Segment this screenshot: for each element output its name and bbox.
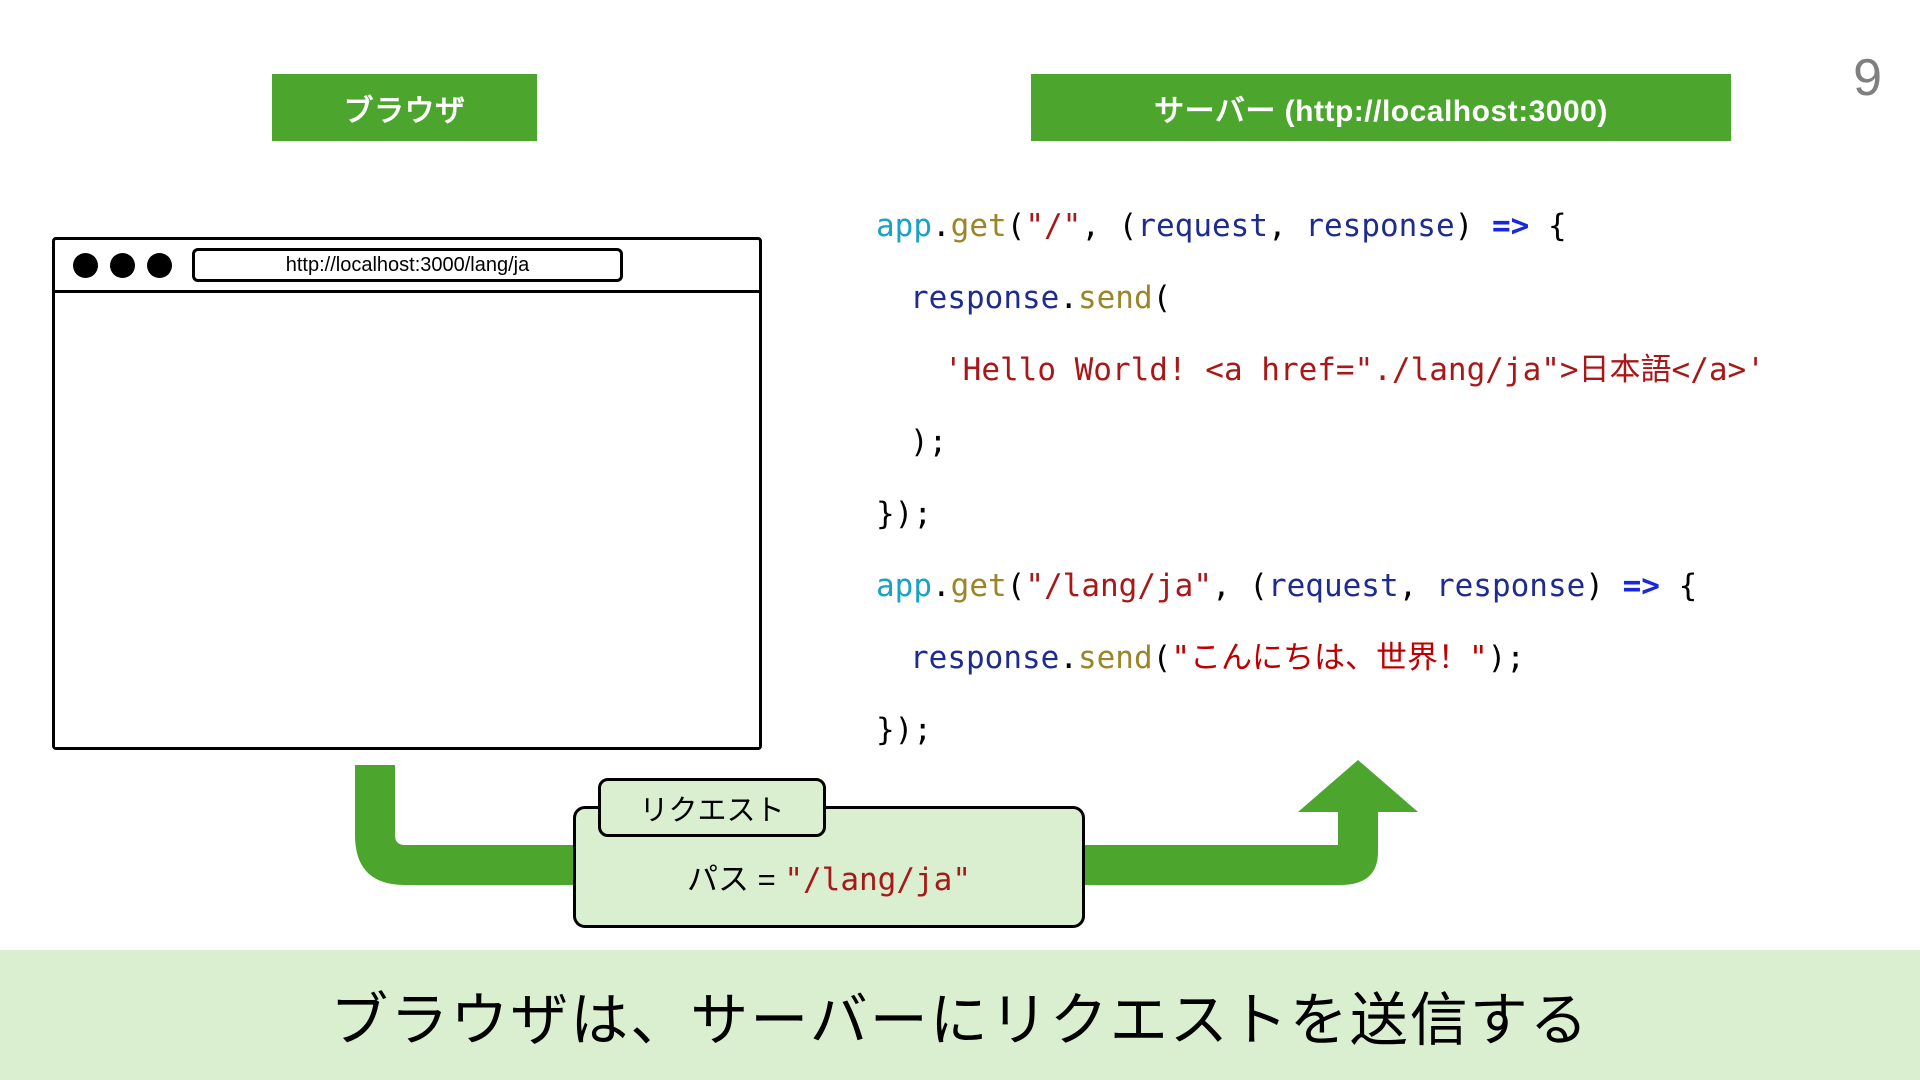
code-token: request [1268,568,1399,604]
code-token: ); [1488,640,1525,676]
code-token: "/" [1025,208,1081,244]
browser-viewport [55,293,759,747]
server-code-block: app.get("/", (request, response) => {res… [876,190,1765,766]
code-line: }); [876,478,1765,550]
code-token: "/lang/ja" [1025,568,1212,604]
code-token: , [1399,568,1436,604]
code-token: 'Hello World! <a href="./lang/ja">日本語</a… [944,352,1765,388]
code-token: response [910,280,1059,316]
code-token: ( [1153,280,1172,316]
code-token: get [951,208,1007,244]
request-callout-body: パス = "/lang/ja" [687,854,971,899]
code-line: app.get("/", (request, response) => { [876,190,1765,262]
code-token: ( [1007,208,1026,244]
code-token: app [876,208,932,244]
server-panel-title: サーバー (http://localhost:3000) [1031,74,1731,141]
code-token: => [1623,568,1660,604]
code-line: }); [876,694,1765,766]
code-token: . [1059,640,1078,676]
code-line: app.get("/lang/ja", (request, response) … [876,550,1765,622]
code-token: }); [876,496,932,532]
code-token: , [1268,208,1305,244]
page-number: 9 [1853,52,1882,104]
code-token: response [910,640,1059,676]
code-token: }); [876,712,932,748]
request-callout-tab-label: リクエスト [639,787,784,829]
code-line: response.send("こんにちは、世界！"); [876,622,1765,694]
url-bar[interactable]: http://localhost:3000/lang/ja [192,248,623,282]
code-token: send [1078,280,1153,316]
code-token: ) [1585,568,1622,604]
code-token: send [1078,640,1153,676]
request-callout-tab: リクエスト [598,778,826,837]
browser-chrome-bar: http://localhost:3000/lang/ja [55,240,759,293]
code-token: { [1660,568,1697,604]
code-token: { [1529,208,1566,244]
code-token: ) [1455,208,1492,244]
code-line: ); [876,406,1765,478]
request-path-label: パス = [687,862,784,897]
code-line: 'Hello World! <a href="./lang/ja">日本語</a… [876,334,1765,406]
code-token: . [932,208,951,244]
code-token: . [1059,280,1078,316]
window-close-dot-icon[interactable] [73,253,98,278]
code-token: => [1492,208,1529,244]
code-token: "こんにちは、世界！" [1171,640,1487,676]
request-path-value: "/lang/ja" [784,862,971,898]
code-token: app [876,568,932,604]
code-line: response.send( [876,262,1765,334]
window-maximize-dot-icon[interactable] [147,253,172,278]
code-token: request [1137,208,1268,244]
code-token: get [951,568,1007,604]
code-token: ( [1007,568,1026,604]
window-controls [73,253,172,278]
code-token: ( [1153,640,1172,676]
code-token: response [1305,208,1454,244]
code-token: . [932,568,951,604]
browser-window-mock: http://localhost:3000/lang/ja [52,237,762,750]
browser-panel-title: ブラウザ [272,74,537,141]
url-text: http://localhost:3000/lang/ja [286,254,530,277]
caption-text: ブラウザは、サーバーにリクエストを送信する [330,973,1589,1057]
code-token: response [1436,568,1585,604]
caption-band: ブラウザは、サーバーにリクエストを送信する [0,950,1920,1080]
code-token: ); [910,424,947,460]
window-minimize-dot-icon[interactable] [110,253,135,278]
code-token: , ( [1081,208,1137,244]
code-token: , ( [1212,568,1268,604]
